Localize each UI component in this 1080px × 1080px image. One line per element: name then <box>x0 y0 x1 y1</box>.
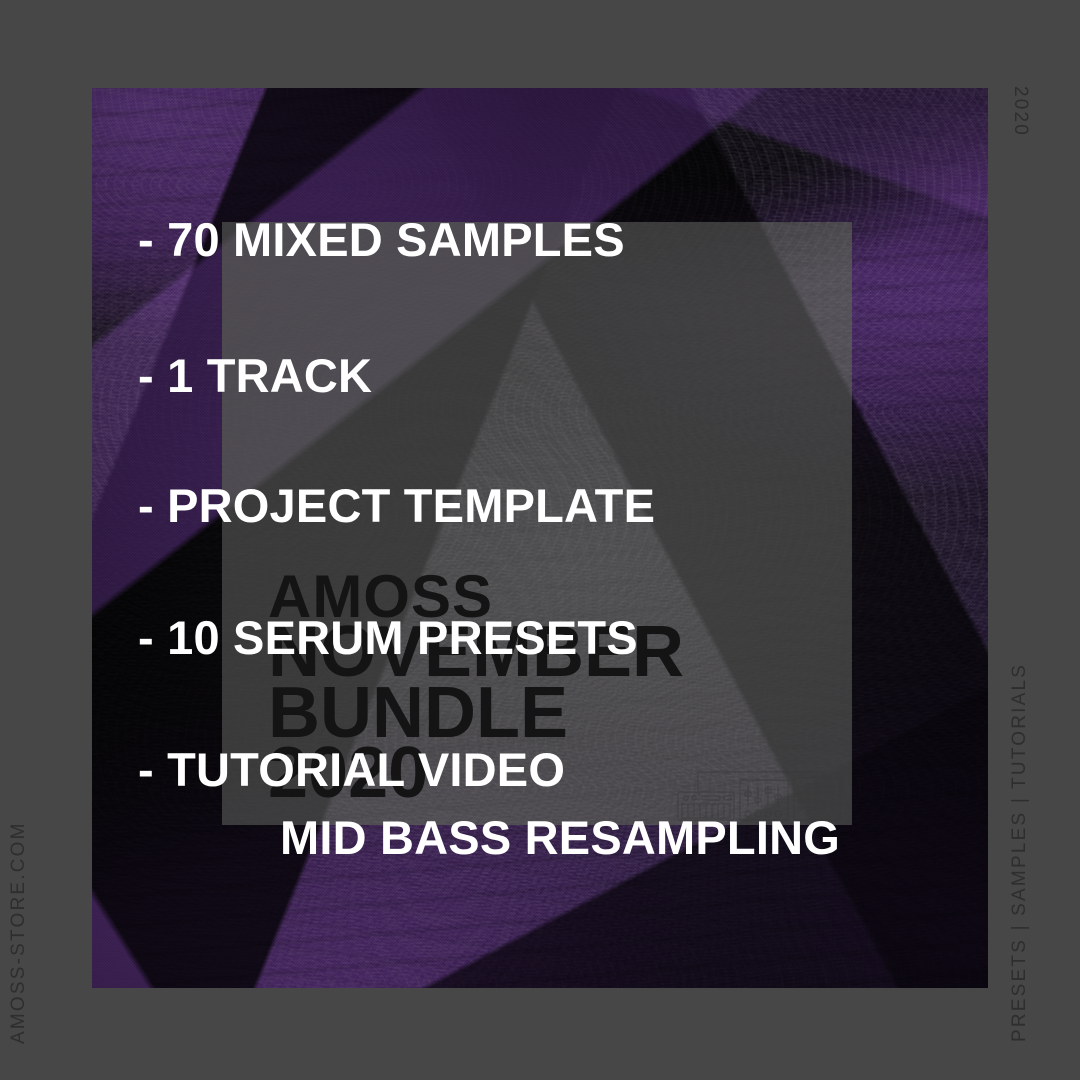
side-label-categories: PRESETS | SAMPLES | TUTORIALS <box>1009 663 1031 1042</box>
cable-path <box>698 772 824 794</box>
side-label-year: 2020 <box>1009 86 1031 137</box>
feature-item-serum-presets: - 10 SERUM PRESETS <box>138 610 638 665</box>
poster-canvas: AMOSS NOVEMBER BUNDLE 2020 <box>0 0 1080 1080</box>
feature-item-project-template: - PROJECT TEMPLATE <box>138 478 655 533</box>
feature-item-tutorial-video: - TUTORIAL VIDEO <box>138 742 565 797</box>
feature-item-track: - 1 TRACK <box>138 348 372 403</box>
feature-item-mixed-samples: - 70 MIXED SAMPLES <box>138 212 625 267</box>
feature-item-tutorial-topic: MID BASS RESAMPLING <box>280 810 840 865</box>
side-label-website: AMOSS-STORE.COM <box>8 821 30 1044</box>
